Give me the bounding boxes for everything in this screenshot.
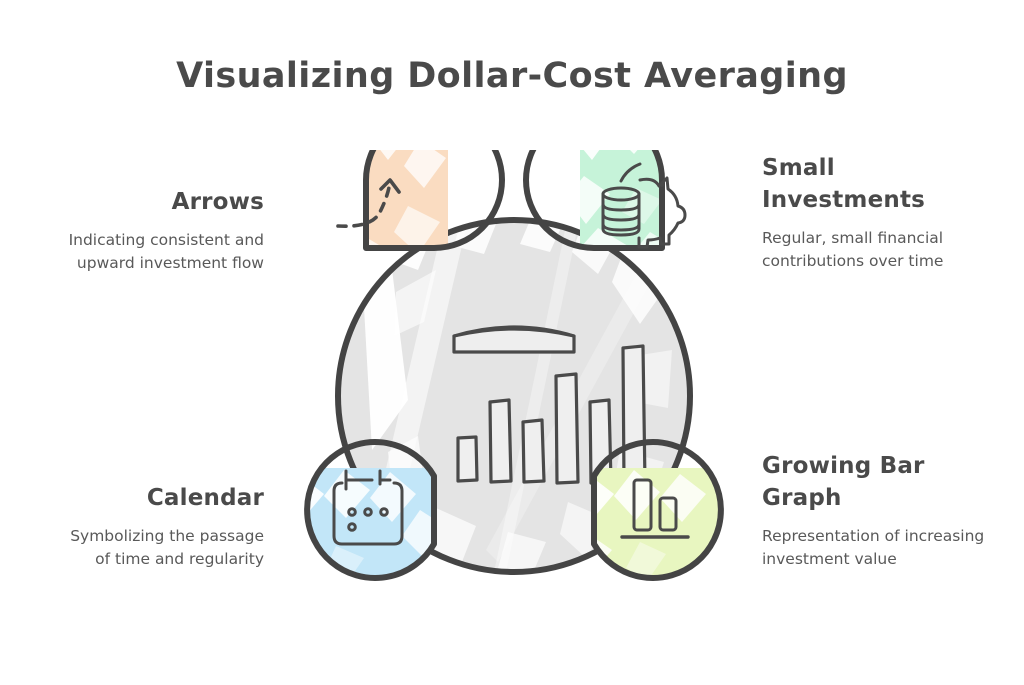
page-title: Visualizing Dollar-Cost Averaging xyxy=(0,56,1024,96)
node-text-arrows: Arrows Indicating consistent and upward … xyxy=(28,186,264,274)
node-heading-growing-bar-graph: Growing Bar Graph xyxy=(762,450,998,514)
node-body-calendar: Symbolizing the passage of time and regu… xyxy=(52,525,264,570)
infographic-canvas: Visualizing Dollar-Cost Averaging Arrows… xyxy=(0,0,1024,685)
node-body-small-investments: Regular, small financial contributions o… xyxy=(762,227,994,272)
diagram xyxy=(268,150,760,642)
node-heading-calendar: Calendar xyxy=(52,482,264,514)
node-bubble-growing-bar-graph[interactable] xyxy=(568,442,742,638)
node-text-calendar: Calendar Symbolizing the passage of time… xyxy=(52,482,264,570)
node-heading-arrows: Arrows xyxy=(28,186,264,218)
node-text-growing-bar-graph: Growing Bar Graph Representation of incr… xyxy=(762,450,998,570)
node-bubble-calendar[interactable] xyxy=(274,442,448,638)
node-body-growing-bar-graph: Representation of increasing investment … xyxy=(762,525,998,570)
node-heading-small-investments: Small Investments xyxy=(762,152,994,216)
node-bubble-calendar-fill xyxy=(274,468,448,638)
node-text-small-investments: Small Investments Regular, small financi… xyxy=(762,152,994,272)
node-body-arrows: Indicating consistent and upward investm… xyxy=(28,229,264,274)
